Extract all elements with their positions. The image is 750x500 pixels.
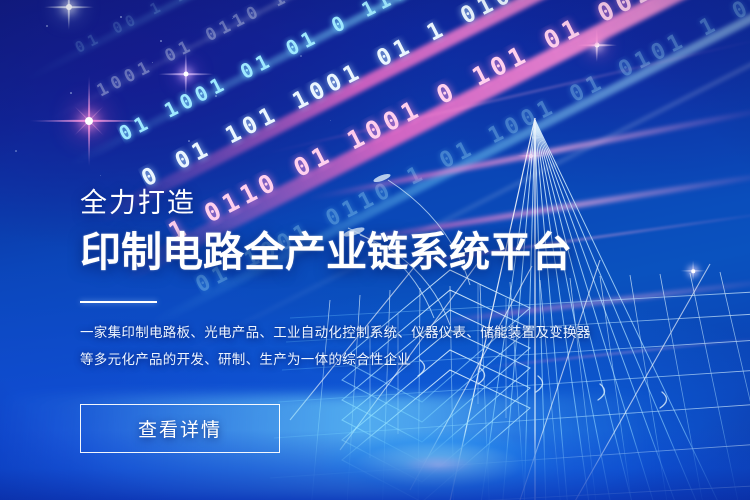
- star-dust: [152, 62, 153, 63]
- view-details-label: 查看详情: [138, 415, 222, 442]
- sparkle-star-icon: [185, 73, 187, 75]
- star-dust: [46, 25, 48, 27]
- banner-copy: 全力打造 印制电路全产业链系统平台 一家集印制电路板、光电产品、工业自动化控制系…: [80, 190, 600, 373]
- star-dust: [300, 55, 302, 57]
- sparkle-star-icon: [530, 155, 532, 157]
- banner-eyebrow: 全力打造: [80, 190, 600, 217]
- binary-row: 01 1001 01 01 0 1101 01 0011 1 01 1001: [115, 0, 750, 146]
- sparkle-star-icon: [596, 44, 598, 46]
- star-dust: [330, 120, 331, 121]
- hero-banner: 01 00 1 1001 01 1001 0 01 101 0110 01 1 …: [0, 0, 750, 500]
- banner-headline: 印制电路全产业链系统平台: [80, 231, 600, 274]
- binary-row: 1001 01 0110 1 01 001 1 0101 01 1001 0: [94, 0, 750, 101]
- divider-rule: [80, 301, 157, 303]
- star-dust: [70, 92, 72, 94]
- binary-row: 0 01 101 1001 01 1 0101 01 1001 011 01: [137, 0, 750, 192]
- star-dust: [15, 150, 17, 152]
- view-details-button[interactable]: 查看详情: [80, 404, 280, 453]
- sparkle-star-icon: [88, 120, 90, 122]
- banner-description: 一家集印制电路板、光电产品、工业自动化控制系统、仪器仪表、储能装置及变换器 等多…: [80, 319, 600, 373]
- star-dust: [100, 175, 101, 176]
- star-dust: [215, 95, 217, 97]
- star-dust: [120, 16, 122, 18]
- star-dust: [160, 40, 162, 42]
- star-dust: [232, 18, 233, 19]
- description-line-1: 一家集印制电路板、光电产品、工业自动化控制系统、仪器仪表、储能装置及变换器: [80, 319, 600, 346]
- description-line-2: 等多元化产品的开发、研制、生产为一体的综合性企业: [80, 346, 600, 373]
- sparkle-star-icon: [692, 270, 694, 272]
- binary-row: 01 00 1 1001 01 1001 0 01 101 0110 01 1: [72, 0, 750, 57]
- star-dust: [188, 140, 190, 142]
- light-burst-glow: [300, 420, 630, 500]
- sparkle-star-icon: [68, 6, 70, 8]
